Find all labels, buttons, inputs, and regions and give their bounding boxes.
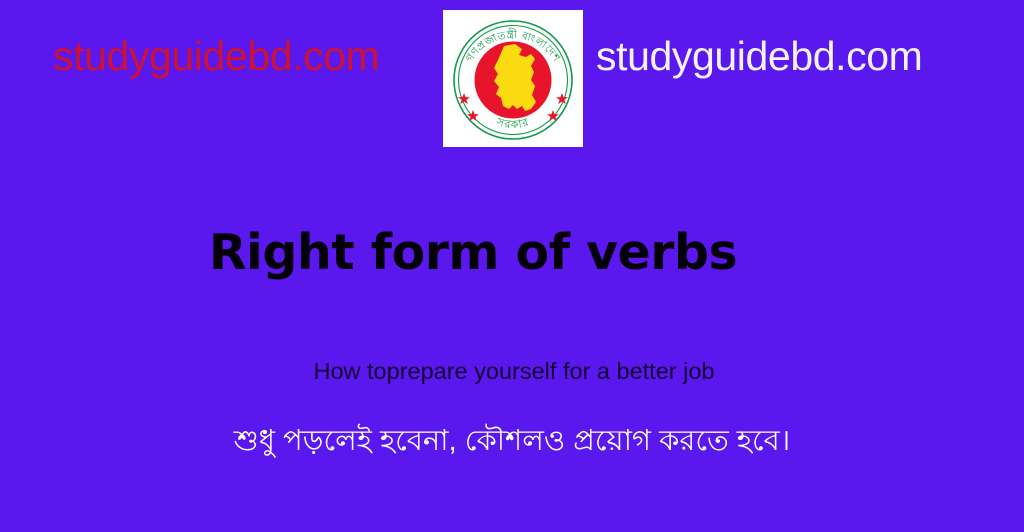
slide-canvas: studyguidebd.com গণপ্রজাতন্ত্রী বাংলাদেশ…: [0, 0, 1024, 532]
government-emblem-logo: গণপ্রজাতন্ত্রী বাংলাদেশ সরকার: [443, 10, 583, 147]
bangla-tagline: শুধু পড়লেই হবেনা, কৌশলও প্রয়োগ করতে হব…: [0, 419, 1024, 463]
watermark-left: studyguidebd.com: [53, 32, 379, 80]
page-title: Right form of verbs: [0, 222, 946, 284]
government-emblem-icon: গণপ্রজাতন্ত্রী বাংলাদেশ সরকার: [443, 10, 583, 147]
subtitle: How toprepare yourself for a better job: [0, 355, 1024, 387]
watermark-right: studyguidebd.com: [596, 32, 922, 80]
